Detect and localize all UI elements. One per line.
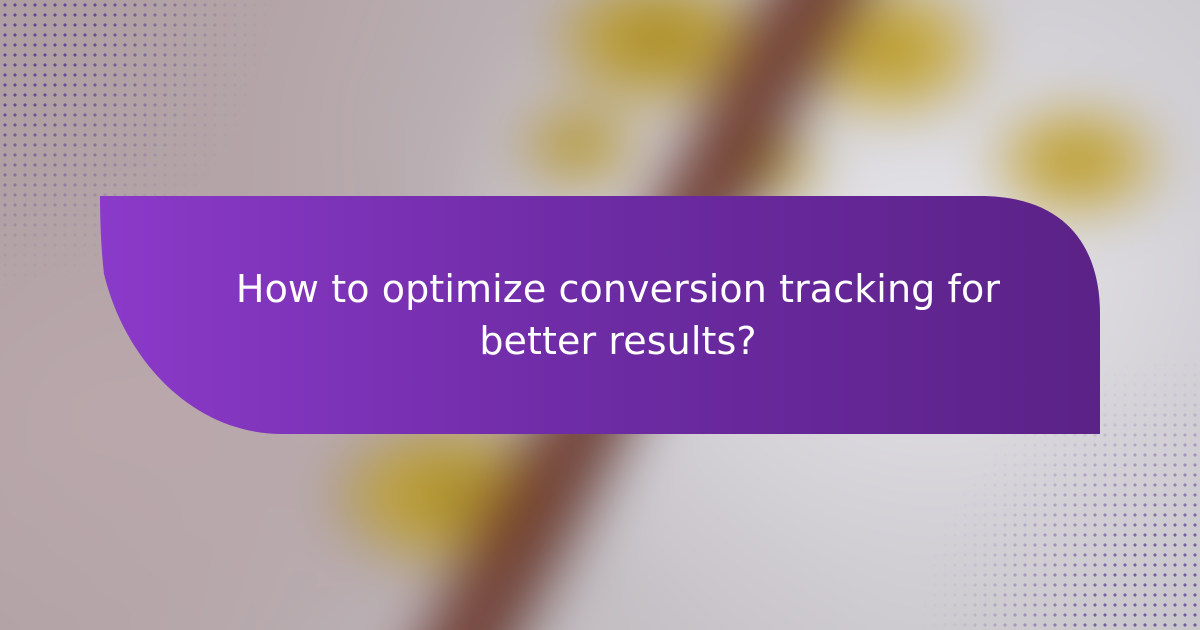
title-block: How to optimize conversion tracking for … (100, 196, 1100, 434)
page-title-line-2: better results? (479, 315, 756, 367)
title-banner: How to optimize conversion tracking for … (100, 196, 1100, 434)
social-header-card: How to optimize conversion tracking for … (0, 0, 1200, 630)
page-title-line-1: How to optimize conversion tracking for (236, 263, 1000, 315)
